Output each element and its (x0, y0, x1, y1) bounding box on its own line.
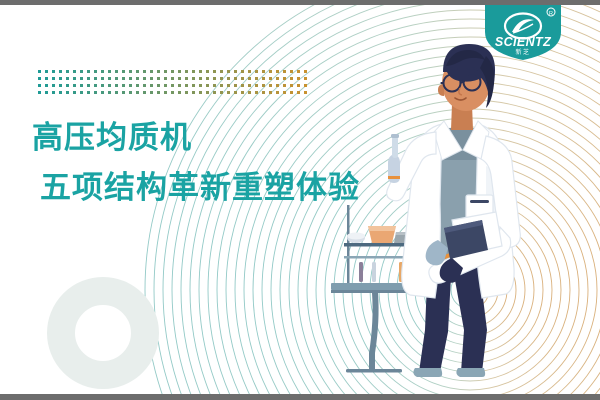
scientist-figure (387, 44, 521, 377)
svg-text:SCIENTZ: SCIENTZ (495, 35, 552, 49)
window-bottom-bar (0, 394, 600, 400)
svg-text:R: R (549, 11, 553, 17)
banner-canvas: 高压均质机 五项结构革新重塑体验 R SCIENTZ 新芝 (0, 0, 600, 400)
scientz-shield-logo[interactable]: R SCIENTZ 新芝 (481, 4, 565, 56)
svg-text:新芝: 新芝 (515, 48, 530, 56)
scientist-illustration (0, 0, 600, 400)
window-top-bar (0, 0, 600, 5)
